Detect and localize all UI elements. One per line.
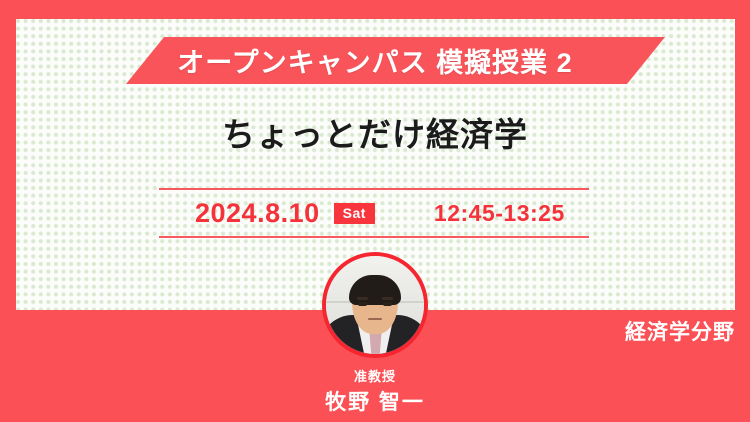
presenter-name: 牧野 智一: [0, 386, 750, 416]
day-of-week-badge: Sat: [334, 203, 375, 224]
presenter-photo: [326, 256, 424, 354]
event-time: 12:45-13:25: [434, 200, 565, 227]
banner-label: オープンキャンパス 模擬授業 2: [0, 37, 750, 84]
photo-eye-left: [358, 302, 367, 306]
presenter-avatar: [322, 252, 428, 358]
event-date: 2024.8.10: [195, 198, 320, 229]
field-label: 経済学分野: [625, 316, 735, 346]
schedule-block: 2024.8.10 Sat 12:45-13:25: [159, 188, 589, 238]
page-title: ちょっとだけ経済学: [0, 108, 750, 156]
photo-eye-right: [383, 302, 392, 306]
event-poster: オープンキャンパス 模擬授業 2 ちょっとだけ経済学 2024.8.10 Sat…: [0, 0, 750, 422]
photo-mouth: [368, 318, 382, 321]
photo-eyebrow-right: [382, 297, 393, 300]
event-banner: オープンキャンパス 模擬授業 2: [0, 37, 750, 84]
photo-eyebrow-left: [357, 297, 368, 300]
presenter-role: 准教授: [0, 366, 750, 385]
